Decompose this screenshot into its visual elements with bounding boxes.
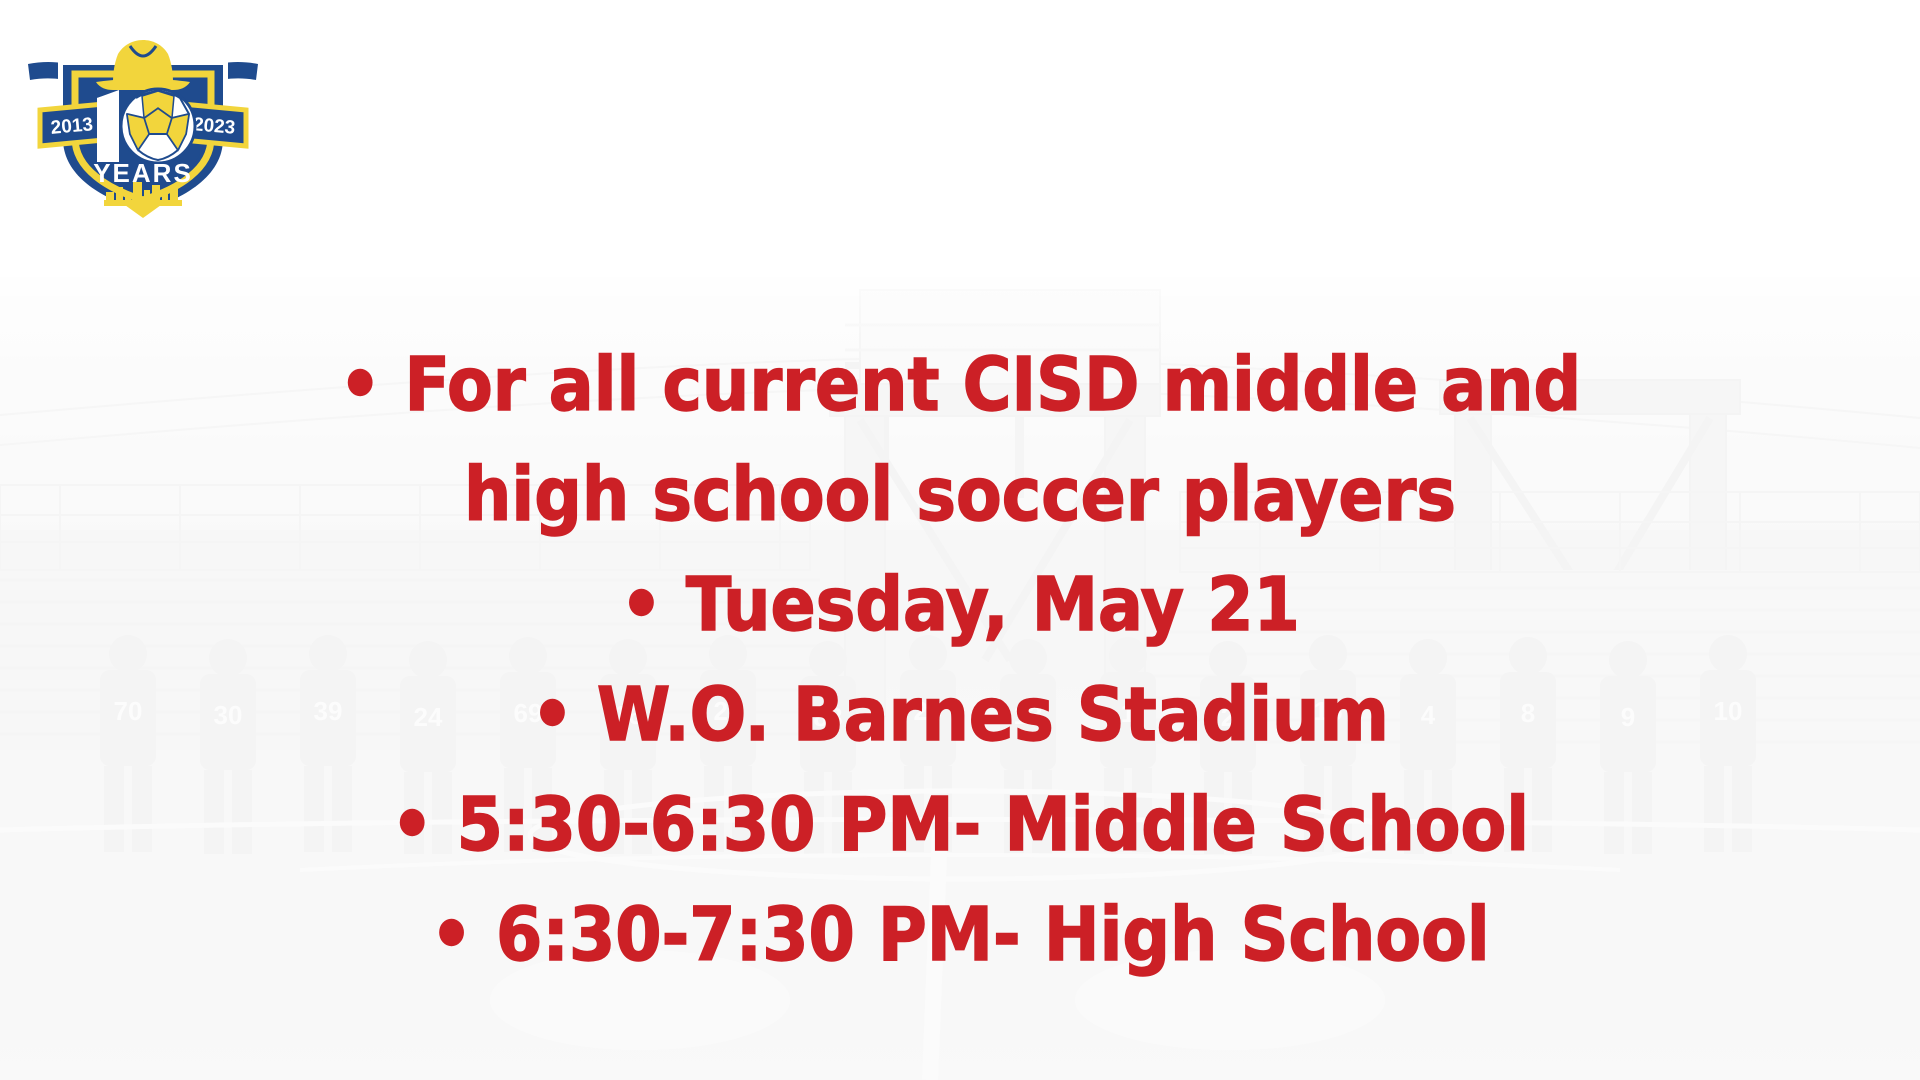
header-band bbox=[0, 0, 1920, 277]
list-item: • Tuesday, May 21 bbox=[0, 550, 1920, 660]
logo-years-label: YEARS bbox=[93, 158, 193, 188]
list-item: • W.O. Barnes Stadium bbox=[0, 660, 1920, 770]
logo-year-end: 2023 bbox=[192, 114, 236, 139]
details-list: • For all current CISD middle and high s… bbox=[0, 330, 1920, 990]
list-item: • 6:30-7:30 PM- High School bbox=[0, 880, 1920, 990]
list-item: • 5:30-6:30 PM- Middle School bbox=[0, 770, 1920, 880]
vaqueros-10-years-logo: 2013 2023 bbox=[18, 22, 268, 222]
list-item: • For all current CISD middle and bbox=[0, 330, 1920, 440]
flyer-canvas: 7030 3924 6916 2788 2013 12 154 89 10 bbox=[0, 0, 1920, 1080]
list-item-continuation: high school soccer players bbox=[0, 440, 1920, 550]
logo-year-start: 2013 bbox=[50, 114, 94, 139]
